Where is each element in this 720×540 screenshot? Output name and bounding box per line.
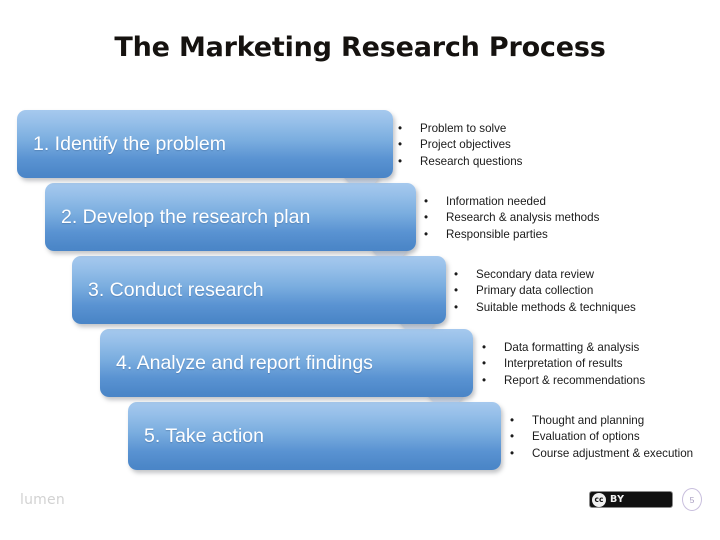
- bullet-dot-icon: •: [510, 429, 532, 445]
- process-step-box-4[interactable]: 4. Analyze and report findings: [100, 329, 473, 397]
- process-step-label-3: 3. Conduct research: [72, 279, 264, 302]
- bullet-item: •Suitable methods & techniques: [454, 300, 636, 316]
- bullet-dot-icon: •: [482, 340, 504, 356]
- process-step-label-2: 2. Develop the research plan: [45, 206, 310, 229]
- bullet-dot-icon: •: [454, 300, 476, 316]
- slide-canvas: The Marketing Research Process 1. Identi…: [0, 0, 720, 540]
- bullet-dot-icon: •: [424, 227, 446, 243]
- bullet-text: Information needed: [446, 195, 546, 208]
- bullet-dot-icon: •: [398, 137, 420, 153]
- process-step-box-5[interactable]: 5. Take action: [128, 402, 501, 470]
- bullet-text: Primary data collection: [476, 284, 593, 297]
- bullet-dot-icon: •: [454, 267, 476, 283]
- bullet-item: •Research questions: [398, 154, 522, 170]
- bullet-dot-icon: •: [454, 283, 476, 299]
- bullet-text: Research & analysis methods: [446, 211, 599, 224]
- bullet-item: •Responsible parties: [424, 227, 599, 243]
- bullet-dot-icon: •: [510, 446, 532, 462]
- bullet-item: •Information needed: [424, 194, 599, 210]
- bullet-text: Evaluation of options: [532, 430, 640, 443]
- bullet-item: •Project objectives: [398, 137, 522, 153]
- bullet-text: Responsible parties: [446, 228, 548, 241]
- bullet-item: •Data formatting & analysis: [482, 340, 645, 356]
- lumen-logo: lumen: [20, 492, 65, 508]
- bullet-text: Report & recommendations: [504, 374, 645, 387]
- page-number-badge: 5: [682, 488, 702, 511]
- process-step-bullets-4: •Data formatting & analysis•Interpretati…: [482, 340, 645, 389]
- bullet-text: Research questions: [420, 155, 522, 168]
- process-step-label-5: 5. Take action: [128, 425, 264, 448]
- process-step-bullets-2: •Information needed•Research & analysis …: [424, 194, 599, 243]
- bullet-item: •Course adjustment & execution: [510, 446, 693, 462]
- bullet-text: Secondary data review: [476, 268, 594, 281]
- bullet-dot-icon: •: [482, 373, 504, 389]
- bullet-dot-icon: •: [398, 121, 420, 137]
- bullet-item: •Thought and planning: [510, 413, 693, 429]
- bullet-text: Data formatting & analysis: [504, 341, 639, 354]
- bullet-text: Problem to solve: [420, 122, 506, 135]
- bullet-item: •Evaluation of options: [510, 429, 693, 445]
- bullet-text: Thought and planning: [532, 414, 644, 427]
- bullet-text: Course adjustment & execution: [532, 447, 693, 460]
- process-step-box-2[interactable]: 2. Develop the research plan: [45, 183, 416, 251]
- bullet-item: •Research & analysis methods: [424, 210, 599, 226]
- bullet-item: •Report & recommendations: [482, 373, 645, 389]
- process-step-box-1[interactable]: 1. Identify the problem: [17, 110, 393, 178]
- process-step-bullets-5: •Thought and planning•Evaluation of opti…: [510, 413, 693, 462]
- bullet-dot-icon: •: [398, 154, 420, 170]
- cc-license-type-label: BY: [610, 494, 624, 505]
- bullet-text: Suitable methods & techniques: [476, 301, 636, 314]
- process-step-box-3[interactable]: 3. Conduct research: [72, 256, 446, 324]
- process-step-label-4: 4. Analyze and report findings: [100, 352, 373, 375]
- bullet-text: Interpretation of results: [504, 357, 623, 370]
- bullet-item: •Problem to solve: [398, 121, 522, 137]
- bullet-dot-icon: •: [424, 210, 446, 226]
- bullet-dot-icon: •: [510, 413, 532, 429]
- process-step-bullets-3: •Secondary data review•Primary data coll…: [454, 267, 636, 316]
- bullet-dot-icon: •: [482, 356, 504, 372]
- bullet-dot-icon: •: [424, 194, 446, 210]
- cc-icon: cc: [592, 493, 606, 507]
- process-step-bullets-1: •Problem to solve•Project objectives•Res…: [398, 121, 522, 170]
- creative-commons-by-badge: cc BY: [589, 491, 673, 508]
- bullet-item: •Interpretation of results: [482, 356, 645, 372]
- bullet-text: Project objectives: [420, 138, 511, 151]
- process-step-label-1: 1. Identify the problem: [17, 133, 226, 156]
- bullet-item: •Primary data collection: [454, 283, 636, 299]
- bullet-item: •Secondary data review: [454, 267, 636, 283]
- page-title: The Marketing Research Process: [0, 32, 720, 63]
